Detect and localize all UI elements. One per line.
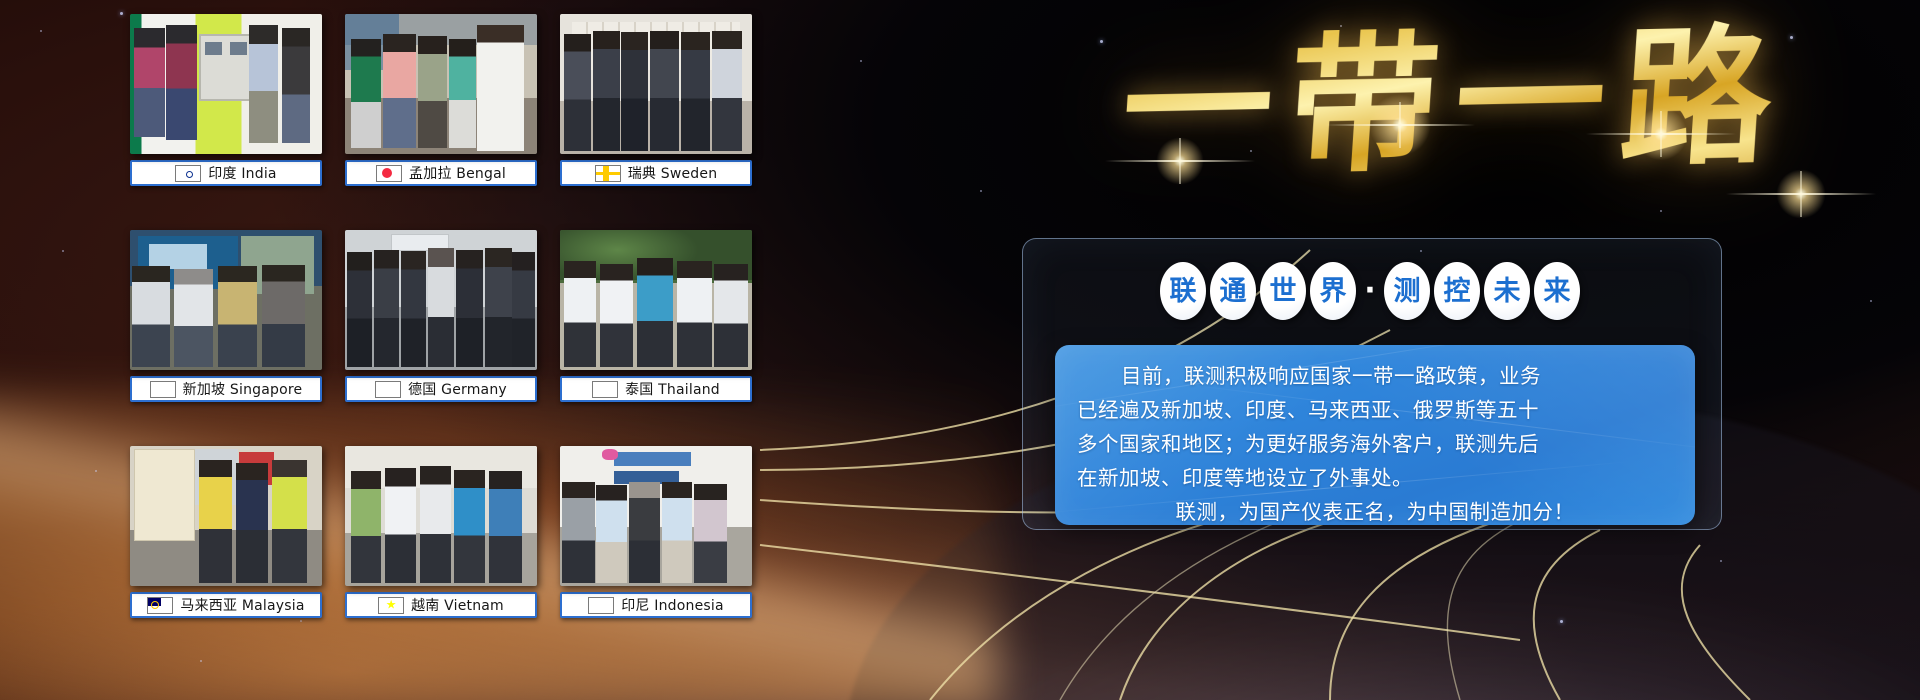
indonesia-flag-icon bbox=[588, 597, 614, 614]
photo-thailand bbox=[560, 230, 752, 370]
tag-label: 新加坡 Singapore bbox=[183, 379, 303, 399]
photo-india bbox=[130, 14, 322, 154]
vietnam-flag-icon bbox=[378, 597, 404, 614]
tag-indonesia[interactable]: 印尼 Indonesia bbox=[560, 592, 752, 618]
singapore-flag-icon bbox=[150, 381, 176, 398]
photo-vietnam bbox=[345, 446, 537, 586]
tag-label: 德国 Germany bbox=[408, 379, 507, 399]
tag-germany[interactable]: 德国 Germany bbox=[345, 376, 537, 402]
sweden-flag-icon bbox=[595, 165, 621, 182]
tag-thailand[interactable]: 泰国 Thailand bbox=[560, 376, 752, 402]
slogan-char: 测 bbox=[1384, 262, 1430, 320]
slogan-char: 世 bbox=[1260, 262, 1306, 320]
gallery-cell: 马来西亚 Malaysia bbox=[130, 446, 322, 618]
tag-label: 印度 India bbox=[208, 163, 276, 183]
description-line: 在新加坡、印度等地设立了外事处。 bbox=[1077, 461, 1673, 495]
gallery-cell: 印尼 Indonesia bbox=[560, 446, 752, 618]
photo-malaysia bbox=[130, 446, 322, 586]
description-panel: 目前，联测积极响应国家一带一路政策，业务 已经遍及新加坡、印度、马来西亚、俄罗斯… bbox=[1055, 345, 1695, 525]
india-flag-icon bbox=[175, 165, 201, 182]
slogan-char: 控 bbox=[1434, 262, 1480, 320]
slogan-char: 未 bbox=[1484, 262, 1530, 320]
description-line: 多个国家和地区；为更好服务海外客户，联测先后 bbox=[1077, 427, 1673, 461]
slogan-separator: · bbox=[1360, 276, 1380, 306]
headline-calligraphy-wrap: 一带一路 bbox=[1035, 8, 1875, 208]
slogan-char: 通 bbox=[1210, 262, 1256, 320]
banner-stage: 印度 India 孟加拉 Bengal bbox=[0, 0, 1920, 700]
photo-sweden bbox=[560, 14, 752, 154]
photo-indonesia bbox=[560, 446, 752, 586]
tag-label: 瑞典 Sweden bbox=[628, 163, 718, 183]
description-line: 已经遍及新加坡、印度、马来西亚、俄罗斯等五十 bbox=[1077, 393, 1673, 427]
photo-bengal bbox=[345, 14, 537, 154]
tag-bengal[interactable]: 孟加拉 Bengal bbox=[345, 160, 537, 186]
tag-label: 越南 Vietnam bbox=[411, 595, 504, 615]
tag-malaysia[interactable]: 马来西亚 Malaysia bbox=[130, 592, 322, 618]
gallery-cell: 泰国 Thailand bbox=[560, 230, 752, 402]
description-line: 目前，联测积极响应国家一带一路政策，业务 bbox=[1077, 359, 1673, 393]
tag-india[interactable]: 印度 India bbox=[130, 160, 322, 186]
slogan-row: 联 通 世 界 · 测 控 未 来 bbox=[1160, 262, 1580, 320]
germany-flag-icon bbox=[375, 381, 401, 398]
photo-singapore bbox=[130, 230, 322, 370]
slogan-char: 界 bbox=[1310, 262, 1356, 320]
thailand-flag-icon bbox=[592, 381, 618, 398]
gallery-cell: 新加坡 Singapore bbox=[130, 230, 322, 402]
tag-sweden[interactable]: 瑞典 Sweden bbox=[560, 160, 752, 186]
tag-label: 泰国 Thailand bbox=[625, 379, 720, 399]
bengal-flag-icon bbox=[376, 165, 402, 182]
description-line: 联测，为国产仪表正名，为中国制造加分！ bbox=[1077, 495, 1673, 525]
photo-germany bbox=[345, 230, 537, 370]
country-photo-grid: 印度 India 孟加拉 Bengal bbox=[130, 14, 770, 586]
page-title: 一带一路 bbox=[1028, 0, 1882, 207]
tag-singapore[interactable]: 新加坡 Singapore bbox=[130, 376, 322, 402]
tag-vietnam[interactable]: 越南 Vietnam bbox=[345, 592, 537, 618]
gallery-cell: 德国 Germany bbox=[345, 230, 537, 402]
tag-label: 印尼 Indonesia bbox=[621, 595, 724, 615]
tag-label: 马来西亚 Malaysia bbox=[180, 595, 304, 615]
slogan-char: 联 bbox=[1160, 262, 1206, 320]
gallery-cell: 瑞典 Sweden bbox=[560, 14, 752, 186]
gallery-cell: 孟加拉 Bengal bbox=[345, 14, 537, 186]
tag-label: 孟加拉 Bengal bbox=[409, 163, 506, 183]
malaysia-flag-icon bbox=[147, 597, 173, 614]
gallery-cell: 越南 Vietnam bbox=[345, 446, 537, 618]
slogan-char: 来 bbox=[1534, 262, 1580, 320]
gallery-cell: 印度 India bbox=[130, 14, 322, 186]
